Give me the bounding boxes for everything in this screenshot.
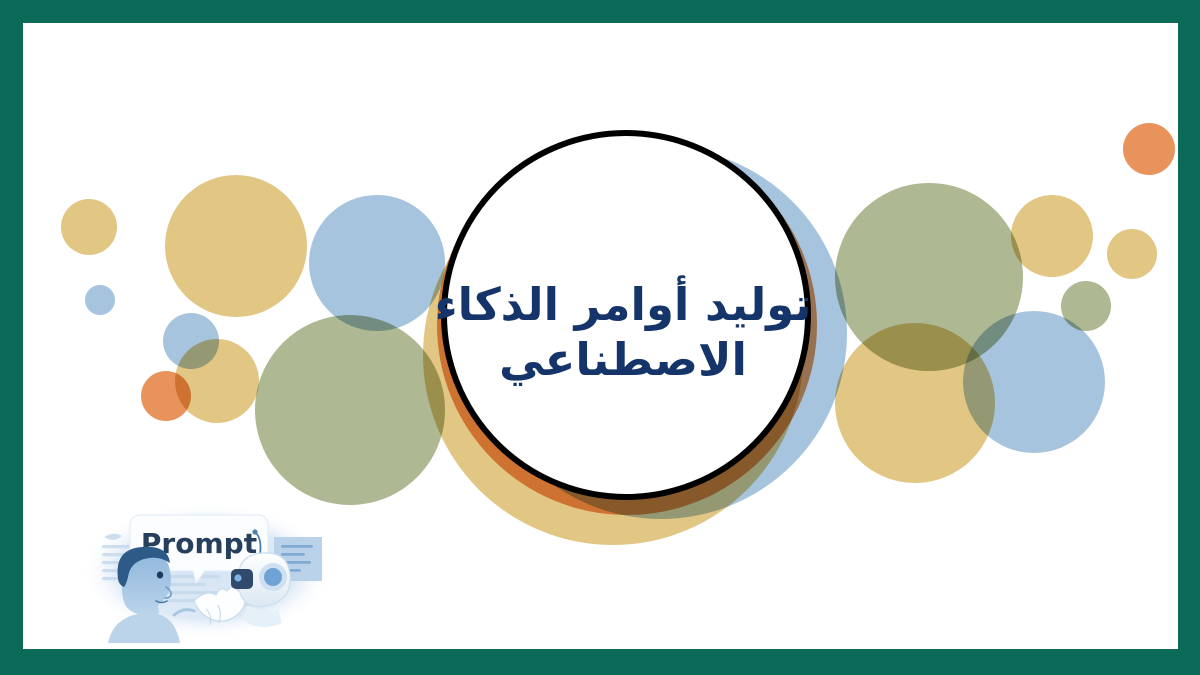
circle-gold-medium-left [175,339,259,423]
circle-gold-tiny-right [1107,229,1157,279]
slide-canvas: توليد أوامر الذكاء الاصطناعي [23,23,1178,649]
circle-orange-top-right [1123,123,1175,175]
circle-orange-small-left [141,371,191,421]
prompt-illustration: Prompt [78,493,336,643]
circle-blue-tiny-left [85,285,115,315]
circle-sage-small-right [1061,281,1111,331]
slide-frame: توليد أوامر الذكاء الاصطناعي [0,0,1200,675]
circle-gold-medium-right [1011,195,1093,277]
center-medallion [441,130,811,500]
circle-gold-large-left [165,175,307,317]
circle-blue-large-right [963,311,1105,453]
circle-blue-large-upper [309,195,445,331]
circle-gold-small-far-left [61,199,117,255]
circle-sage-large-left [255,315,445,505]
